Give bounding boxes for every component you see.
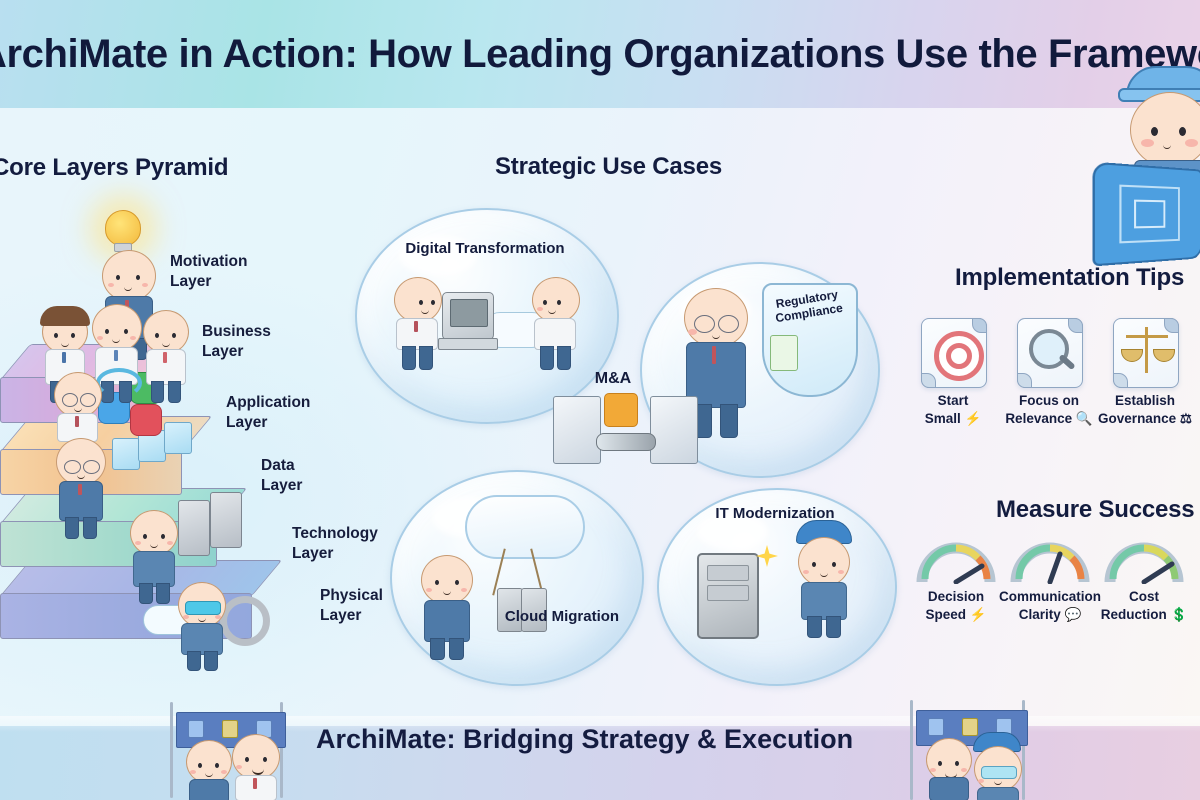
- ma-building-left-icon: [553, 396, 601, 464]
- tip-card-establish-governance[interactable]: [1113, 318, 1179, 388]
- cloud-icon: [465, 495, 585, 559]
- layer-label-business: Business Layer: [202, 322, 271, 362]
- it-modernization-character: [790, 520, 860, 638]
- infographic-canvas: ArchiMate in Action: How Leading Organiz…: [0, 0, 1200, 800]
- layer-label-application: Application Layer: [226, 393, 310, 433]
- metric-label-cost-reduction: Cost Reduction 💲: [1084, 588, 1200, 623]
- tip-label-start-small: Start Small ⚡: [898, 392, 1008, 427]
- gauge-communication-clarity: [1010, 538, 1090, 584]
- gauge-cost-reduction: [1104, 538, 1184, 584]
- footer-tagline: ArchiMate: Bridging Strategy & Execution: [316, 724, 853, 755]
- business-character-right: [137, 310, 193, 404]
- data-character: [50, 438, 110, 538]
- section-heading-measure-success: Measure Success: [996, 496, 1194, 524]
- lightbulb-icon: [105, 210, 141, 246]
- goggles-icon: [981, 766, 1017, 779]
- scales-icon: [1145, 327, 1148, 373]
- use-case-label-ma: M&A: [583, 369, 643, 388]
- data-cube-icon: [164, 422, 192, 454]
- section-heading-use-cases: Strategic Use Cases: [495, 153, 722, 181]
- physical-character: [172, 582, 230, 670]
- page-title: ArchiMate in Action: How Leading Organiz…: [0, 32, 1200, 77]
- blueprint-icon: [1093, 162, 1200, 267]
- application-character: [48, 372, 106, 444]
- handshake-icon: [596, 433, 656, 451]
- tip-card-focus-relevance[interactable]: [1017, 318, 1083, 388]
- gauge-decision-speed: [916, 538, 996, 584]
- tip-card-start-small[interactable]: [921, 318, 987, 388]
- layer-label-physical: Physical Layer: [320, 586, 383, 626]
- server-rack-icon: [210, 492, 242, 548]
- app-icon-red: [130, 404, 162, 436]
- blueprint-engineer-character: [1098, 62, 1200, 262]
- tip-label-focus-relevance: Focus on Relevance 🔍: [994, 392, 1104, 427]
- footer-character-left-b: [228, 734, 286, 800]
- layer-label-technology: Technology Layer: [292, 524, 378, 564]
- layer-label-data: Data Layer: [261, 456, 302, 496]
- section-heading-implementation-tips: Implementation Tips: [955, 264, 1184, 292]
- layer-label-motivation: Motivation Layer: [170, 252, 248, 292]
- ma-building-right-icon: [650, 396, 698, 464]
- tip-label-establish-governance: Establish Governance ⚖: [1090, 392, 1200, 427]
- computer-icon: [442, 292, 494, 340]
- cloud-migration-character: [415, 555, 477, 659]
- legacy-server-icon: [697, 553, 759, 639]
- compliance-document-icon: [770, 335, 798, 371]
- character-head: [1130, 92, 1200, 168]
- dt-character-right: [522, 277, 584, 373]
- use-case-label-digital-transformation: Digital Transformation: [395, 240, 575, 258]
- data-cube-icon: [112, 438, 140, 470]
- server-rack-icon: [178, 500, 210, 556]
- footer-character-right-b: [968, 732, 1028, 800]
- section-heading-core-layers: Core Layers Pyramid: [0, 154, 228, 182]
- target-arrow-icon: [934, 331, 984, 381]
- puzzle-piece-icon: [604, 393, 638, 427]
- use-case-label-cloud-migration: Cloud Migration: [487, 608, 637, 626]
